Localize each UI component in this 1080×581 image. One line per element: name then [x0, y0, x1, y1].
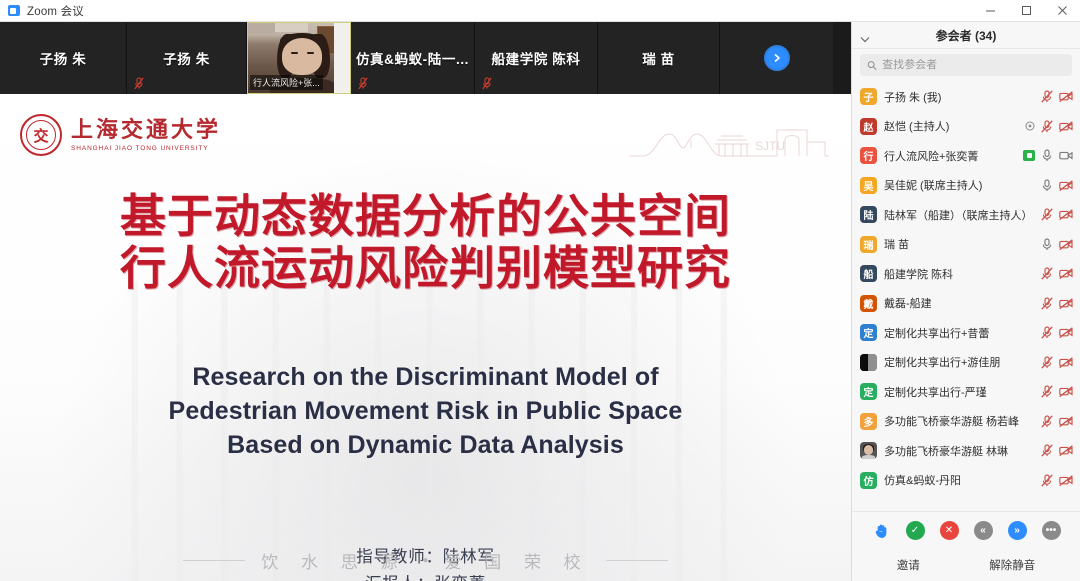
- participant-name: 赵恺 (主持人): [884, 118, 1018, 134]
- participant-name: 仿真&蚂蚁-丹阳: [884, 472, 1034, 488]
- video-tile-name: 子扬 朱: [40, 48, 87, 68]
- participant-row[interactable]: 行行人流风险+张奕菁: [852, 141, 1080, 171]
- participant-status-icons: [1041, 326, 1073, 339]
- video-tile-name: 子扬 朱: [163, 48, 210, 68]
- video-off-icon[interactable]: [1059, 268, 1073, 279]
- faster-icon[interactable]: »: [1008, 521, 1027, 540]
- footer-dot: ●: [422, 555, 428, 566]
- video-tile-2[interactable]: 子扬 朱: [127, 22, 247, 94]
- minimize-icon[interactable]: [972, 0, 1008, 22]
- participants-panel-footer: ✓✕«»••• 邀请 解除静音: [852, 511, 1080, 581]
- video-off-icon[interactable]: [1059, 327, 1073, 338]
- participant-avatar: 瑞: [860, 236, 877, 253]
- search-box[interactable]: [860, 54, 1072, 76]
- zoom-app-icon: [8, 5, 20, 16]
- participant-avatar: 船: [860, 265, 877, 282]
- participant-status-icons: [1025, 120, 1073, 133]
- mic-muted-icon[interactable]: [1041, 90, 1053, 103]
- screen-share-icon: [1023, 150, 1035, 161]
- participant-avatar: 多: [860, 413, 877, 430]
- participants-panel-header: 参会者 (34): [852, 22, 1080, 49]
- mic-muted-icon[interactable]: [1041, 267, 1053, 280]
- panel-action-buttons: 邀请 解除静音: [852, 557, 1080, 573]
- slide-background: [0, 94, 851, 581]
- sjtu-skyline-icon: SJTU: [629, 118, 829, 162]
- participant-row[interactable]: 子子扬 朱 (我): [852, 82, 1080, 112]
- video-tile-name: 行人流风险+张...: [250, 75, 323, 90]
- participant-status-icons: [1041, 356, 1073, 369]
- close-icon[interactable]: [1044, 0, 1080, 22]
- zoom-meeting-window: Zoom 会议 子扬 朱 子扬 朱: [0, 0, 1080, 581]
- video-off-icon[interactable]: [1059, 239, 1073, 250]
- video-tile-4[interactable]: 船建学院 陈科: [475, 22, 598, 94]
- participant-row[interactable]: 吴吴佳妮 (联席主持人): [852, 171, 1080, 201]
- participant-status-icons: [1041, 444, 1073, 457]
- chevron-down-icon[interactable]: [860, 30, 870, 48]
- participant-name: 陆林军（船建）（联席主持人）: [884, 207, 1034, 223]
- participant-name: 戴磊-船建: [884, 295, 1034, 311]
- participant-avatar: 戴: [860, 295, 877, 312]
- participant-video-strip: 子扬 朱 子扬 朱 行人流风: [0, 22, 851, 94]
- video-off-icon[interactable]: [1059, 298, 1073, 309]
- participant-avatar: 子: [860, 88, 877, 105]
- video-off-icon[interactable]: [1059, 416, 1073, 427]
- participant-row[interactable]: 多功能飞桥豪华游艇 林琳: [852, 436, 1080, 466]
- maximize-icon[interactable]: [1008, 0, 1044, 22]
- more-options-icon[interactable]: •••: [1042, 521, 1061, 540]
- video-tile-1[interactable]: 子扬 朱: [0, 22, 127, 94]
- participant-avatar: 陆: [860, 206, 877, 223]
- participant-avatar: 定: [860, 324, 877, 341]
- participant-name: 多功能飞桥豪华游艇 杨若峰: [884, 413, 1034, 429]
- participant-row[interactable]: 船船建学院 陈科: [852, 259, 1080, 289]
- raise-hand-icon[interactable]: [872, 521, 891, 540]
- participant-row[interactable]: 瑞瑞 苗: [852, 230, 1080, 260]
- mic-muted-icon: [358, 77, 368, 90]
- mic-muted-icon[interactable]: [1041, 120, 1053, 133]
- participant-status-icons: [1041, 385, 1073, 398]
- video-tile-active-speaker[interactable]: 行人流风险+张...: [247, 22, 351, 94]
- svg-text:SJTU: SJTU: [755, 139, 785, 153]
- slide-title-cn-line1: 基于动态数据分析的公共空间: [0, 190, 851, 242]
- sjtu-seal-icon: [20, 114, 62, 156]
- slide-title-english: Research on the Discriminant Model of Pe…: [0, 360, 851, 462]
- video-off-icon[interactable]: [1059, 386, 1073, 397]
- video-tile-3[interactable]: 仿真&蚂蚁-陆一...: [351, 22, 475, 94]
- participant-name: 船建学院 陈科: [884, 266, 1034, 282]
- footer-motto-right: 爱 国 荣 校: [445, 548, 590, 573]
- mic-on-icon[interactable]: [1041, 238, 1053, 251]
- participant-avatar: [860, 442, 877, 459]
- mic-muted-icon[interactable]: [1041, 356, 1053, 369]
- participant-status-icons: [1041, 474, 1073, 487]
- mic-muted-icon[interactable]: [1041, 474, 1053, 487]
- participant-avatar: 吴: [860, 177, 877, 194]
- participant-status-icons: [1041, 238, 1073, 251]
- mic-muted-icon[interactable]: [1041, 208, 1053, 221]
- mic-on-icon[interactable]: [1041, 149, 1053, 162]
- slide-title-cn-line2: 行人流运动风险判别模型研究: [0, 242, 851, 294]
- participant-row[interactable]: 陆陆林军（船建）（联席主持人）: [852, 200, 1080, 230]
- participant-row[interactable]: 戴戴磊-船建: [852, 289, 1080, 319]
- participant-row[interactable]: 多多功能飞桥豪华游艇 杨若峰: [852, 407, 1080, 437]
- video-off-icon[interactable]: [1059, 91, 1073, 102]
- sjtu-logo-cn: 上海交通大学: [71, 118, 221, 141]
- sjtu-logo: 上海交通大学 SHANGHAI JIAO TONG UNIVERSITY: [20, 114, 221, 156]
- meeting-stage: 子扬 朱 子扬 朱 行人流风: [0, 22, 851, 581]
- participant-row[interactable]: 赵赵恺 (主持人): [852, 112, 1080, 142]
- mic-muted-icon[interactable]: [1041, 444, 1053, 457]
- shared-screen-slide[interactable]: 上海交通大学 SHANGHAI JIAO TONG UNIVERSITY SJT…: [0, 94, 851, 581]
- video-tile-name: 瑞 苗: [642, 48, 675, 68]
- participant-status-icons: [1041, 179, 1073, 192]
- participant-status-icons: [1041, 297, 1073, 310]
- mic-muted-icon[interactable]: [1041, 297, 1053, 310]
- recording-icon: [1025, 121, 1035, 131]
- search-input[interactable]: [882, 59, 1065, 71]
- mic-muted-icon[interactable]: [1041, 385, 1053, 398]
- mic-muted-icon[interactable]: [1041, 415, 1053, 428]
- mic-muted-icon: [482, 77, 492, 90]
- video-off-icon[interactable]: [1059, 121, 1073, 132]
- video-tile-5[interactable]: 瑞 苗: [598, 22, 720, 94]
- slide-footer-motto: 饮 水 思 源 ● 爱 国 荣 校: [0, 548, 851, 573]
- video-on-icon[interactable]: [1059, 150, 1073, 161]
- participant-name: 瑞 苗: [884, 236, 1034, 252]
- slide-title-en-line3: Based on Dynamic Data Analysis: [0, 428, 851, 462]
- footer-motto-left: 饮 水 思 源: [261, 548, 406, 573]
- mic-on-icon[interactable]: [1041, 179, 1053, 192]
- video-off-icon[interactable]: [1059, 475, 1073, 486]
- mic-muted-icon[interactable]: [1041, 326, 1053, 339]
- participants-list[interactable]: 子子扬 朱 (我)赵赵恺 (主持人)行行人流风险+张奕菁吴吴佳妮 (联席主持人)…: [852, 82, 1080, 511]
- slower-icon[interactable]: «: [974, 521, 993, 540]
- sjtu-logo-en: SHANGHAI JIAO TONG UNIVERSITY: [71, 145, 221, 152]
- video-tile-name: 船建学院 陈科: [492, 48, 581, 68]
- participant-row[interactable]: 定定制化共享出行+昔蕾: [852, 318, 1080, 348]
- participant-status-icons: [1041, 415, 1073, 428]
- yes-check-icon[interactable]: ✓: [906, 521, 925, 540]
- video-off-icon[interactable]: [1059, 209, 1073, 220]
- participant-row[interactable]: 定制化共享出行+游佳朋: [852, 348, 1080, 378]
- participant-name: 行人流风险+张奕菁: [884, 148, 1016, 164]
- participant-status-icons: [1041, 90, 1073, 103]
- participant-avatar: 定: [860, 383, 877, 400]
- participant-name: 定制化共享出行+昔蕾: [884, 325, 1034, 341]
- slide-title-chinese: 基于动态数据分析的公共空间 行人流运动风险判别模型研究: [0, 190, 851, 295]
- video-tile-name: 仿真&蚂蚁-陆一...: [356, 48, 469, 68]
- search-container: [852, 49, 1080, 82]
- video-off-icon[interactable]: [1059, 357, 1073, 368]
- no-cross-icon[interactable]: ✕: [940, 521, 959, 540]
- footer-rule-left: [183, 560, 245, 561]
- participant-status-icons: [1041, 267, 1073, 280]
- participant-status-icons: [1041, 208, 1073, 221]
- participant-name: 吴佳妮 (联席主持人): [884, 177, 1034, 193]
- reactions-row: ✓✕«»•••: [852, 521, 1080, 540]
- participants-title: 参会者 (34): [852, 27, 1080, 44]
- slide-title-en-line1: Research on the Discriminant Model of: [0, 360, 851, 394]
- window-titlebar: Zoom 会议: [0, 0, 1080, 22]
- footer-rule-right: [606, 560, 668, 561]
- participants-panel: 参会者 (34) 子子扬 朱 (我)赵赵恺 (主持人)行行人流风险+张奕菁吴吴佳…: [851, 22, 1080, 581]
- search-icon: [867, 60, 877, 71]
- slide-title-en-line2: Pedestrian Movement Risk in Public Space: [0, 394, 851, 428]
- participant-name: 定制化共享出行+游佳朋: [884, 354, 1034, 370]
- participant-avatar: 行: [860, 147, 877, 164]
- unmute-all-button[interactable]: 解除静音: [989, 557, 1035, 573]
- participant-avatar: 仿: [860, 472, 877, 489]
- participant-name: 子扬 朱 (我): [884, 89, 1034, 105]
- window-title: Zoom 会议: [27, 3, 84, 19]
- participant-row[interactable]: 仿仿真&蚂蚁-丹阳: [852, 466, 1080, 496]
- video-off-icon[interactable]: [1059, 180, 1073, 191]
- participant-name: 定制化共享出行-严瑾: [884, 384, 1034, 400]
- participant-name: 多功能飞桥豪华游艇 林琳: [884, 443, 1034, 459]
- participant-avatar: [860, 354, 877, 371]
- video-off-icon[interactable]: [1059, 445, 1073, 456]
- mic-muted-icon: [134, 77, 144, 90]
- invite-button[interactable]: 邀请: [897, 557, 920, 573]
- participant-status-icons: [1023, 149, 1073, 162]
- next-page-arrow-icon[interactable]: [720, 22, 833, 94]
- participant-avatar: 赵: [860, 118, 877, 135]
- participant-row[interactable]: 定定制化共享出行-严瑾: [852, 377, 1080, 407]
- window-controls: [972, 0, 1080, 22]
